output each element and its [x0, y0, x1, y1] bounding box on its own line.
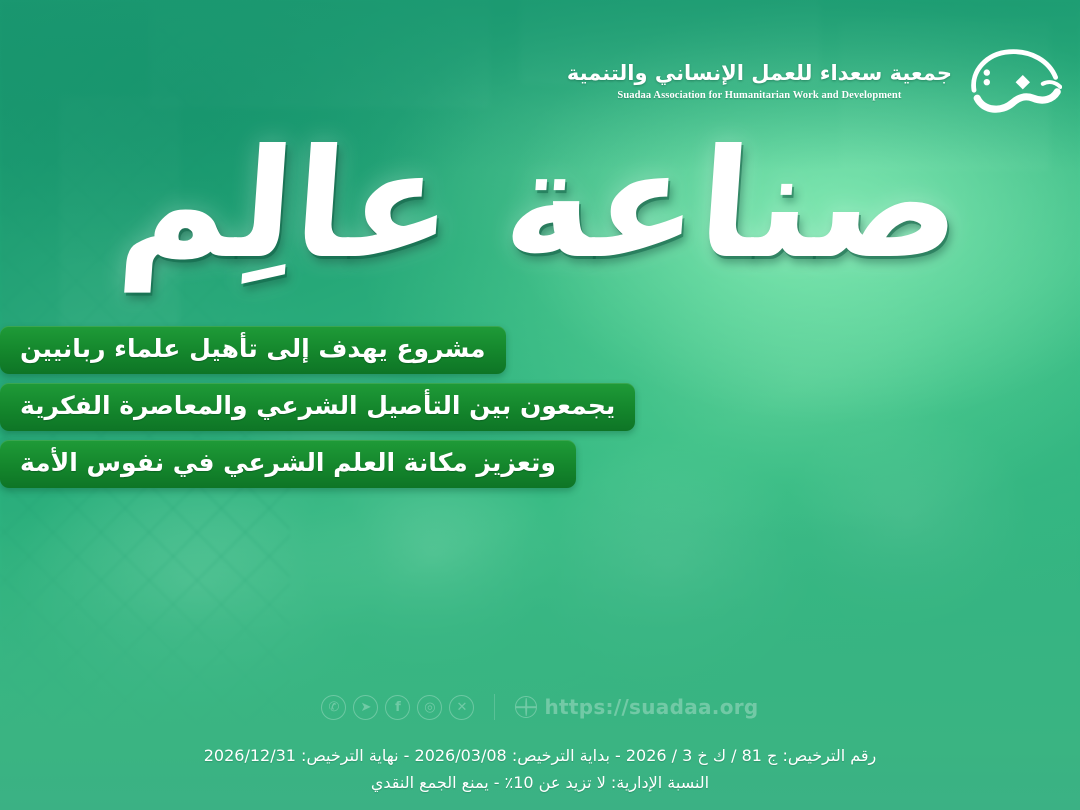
facebook-icon: f	[385, 695, 410, 720]
social-icon-row: ✆ ➤ f ◎ ✕	[321, 695, 474, 720]
x-twitter-icon: ✕	[449, 695, 474, 720]
telegram-icon: ➤	[353, 695, 378, 720]
logo-english-name: Suadaa Association for Humanitarian Work…	[567, 90, 952, 101]
instagram-icon: ◎	[417, 695, 442, 720]
tagline-banner-3: وتعزيز مكانة العلم الشرعي في نفوس الأمة	[0, 440, 576, 488]
tagline-banner-1: مشروع يهدف إلى تأهيل علماء ربانيين	[0, 326, 506, 374]
organization-logo: جمعية سعداء للعمل الإنساني والتنمية Suad…	[567, 42, 1062, 116]
website-url-row: https://suadaa.org	[515, 695, 758, 719]
website-url: https://suadaa.org	[544, 695, 758, 719]
logo-arabic-name: جمعية سعداء للعمل الإنساني والتنمية	[567, 61, 952, 85]
license-number-line: رقم الترخيص: ج 81 / ك خ 3 / 2026 - بداية…	[0, 743, 1080, 769]
tagline-banner-group: مشروع يهدف إلى تأهيل علماء ربانيين يجمعو…	[0, 326, 1080, 497]
suadaa-calligraphy-logo-icon	[966, 42, 1062, 116]
watermark-strip: ✆ ➤ f ◎ ✕ https://suadaa.org	[0, 694, 1080, 720]
watermark-divider	[494, 694, 495, 720]
globe-icon	[515, 696, 537, 718]
footer-license-block: رقم الترخيص: ج 81 / ك خ 3 / 2026 - بداية…	[0, 743, 1080, 796]
whatsapp-icon: ✆	[321, 695, 346, 720]
tagline-banner-2: يجمعون بين التأصيل الشرعي والمعاصرة الفك…	[0, 383, 635, 431]
admin-percentage-line: النسبة الإدارية: لا تزيد عن 10٪ - يمنع ا…	[0, 770, 1080, 796]
poster-canvas: جمعية سعداء للعمل الإنساني والتنمية Suad…	[0, 0, 1080, 810]
